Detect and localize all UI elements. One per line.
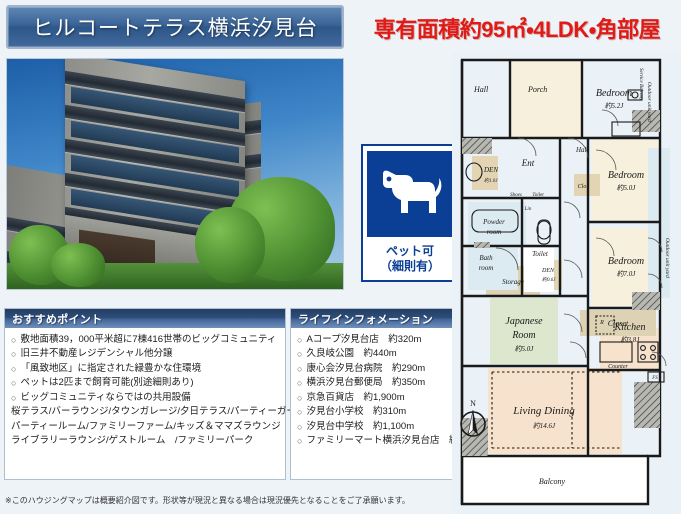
room-size-bedroom-southeast: 約7.0J (617, 270, 637, 278)
property-title-banner: ヒルコートテラス横浜汐見台 (6, 5, 344, 49)
bullet-icon: ○ (297, 391, 302, 405)
room-label-porch: Porch (527, 85, 547, 94)
room-label-hall-mid: Hall (575, 146, 589, 154)
room-label-bedroom-southeast: Bedroom (608, 256, 644, 267)
list-item: ○ ビッグコミュニティならではの共用設備 (11, 391, 279, 405)
list-item-label: 久良岐公園 約440m (306, 347, 396, 361)
list-item-label: 汐見台中学校 約1,100m (306, 420, 414, 434)
room-size-bedroom-east: 約5.0J (617, 184, 637, 192)
room-label-powder-2: room (487, 228, 502, 236)
list-item-label: ビッグコミュニティならではの共用設備 (20, 391, 190, 405)
bullet-icon: ○ (297, 420, 302, 434)
list-item: ○ 汐見台小学校 約310m (297, 405, 453, 419)
room-label-japanese-room-2: Room (511, 330, 535, 341)
room-label-service-balcony: Service Balcony (638, 68, 643, 101)
room-label-closet: Closet (608, 319, 629, 328)
list-item-label: Aコープ汐見台店 約320m (306, 333, 421, 347)
room-label-refrigerator: R (599, 320, 604, 326)
room-label-japanese-room: Japanese (505, 316, 543, 327)
list-item: ○ 横浜汐見台郵便局 約350m (297, 376, 453, 390)
recommended-points-body: ○ 敷地面積39，000平米超に7棟416世帯のビッグコミュニティ ○ 旧三井不… (5, 328, 285, 452)
list-item: ○ 敷地面積39，000平米超に7棟416世帯のビッグコミュニティ (11, 333, 279, 347)
list-item-label: 京急百貨店 約1,900m (306, 391, 404, 405)
room-label-den-2: DEN (541, 268, 555, 274)
room-label-powder: Powder (482, 218, 505, 226)
room-size-living-dining: 約14.6J (533, 422, 556, 430)
room-label-balcony: Balcony (539, 477, 566, 486)
bullet-icon: ○ (297, 405, 302, 419)
list-item: ○ ファミリーマート横浜汐見台店 約420m (297, 434, 453, 448)
pet-badge-caption: ペット可 （細則有） (380, 237, 440, 280)
room-size-bedroom-north: 約5.2J (605, 102, 625, 110)
compass-north-icon: N (456, 397, 490, 445)
building-photo (7, 59, 343, 289)
list-item: ○ 旧三井不動産レジデンシャル他分譲 (11, 347, 279, 361)
room-label-toilet: Toilet (532, 250, 549, 258)
room-label-den-1: DEN (483, 166, 498, 174)
room-label-living-dining: Living Dining (512, 405, 575, 417)
headline-banner: 専有面積約95㎡・4LDK・角部屋 (358, 8, 676, 48)
room-label-outdoor-yard-2: Outdoor unit yard (664, 238, 670, 278)
building-photo-frame (6, 58, 344, 290)
svg-text:N: N (470, 399, 476, 408)
bullet-icon: ○ (297, 434, 302, 448)
facility-line: パーティールーム/ファミリーファーム/キッズ＆ママズラウンジ (11, 420, 279, 434)
list-item: ○ 汐見台中学校 約1,100m (297, 420, 453, 434)
room-size-den-1: 約1.0J (484, 177, 498, 184)
bullet-icon: ○ (297, 333, 302, 347)
listing-page: ヒルコートテラス横浜汐見台 専有面積約95㎡・4LDK・角部屋 (0, 0, 681, 514)
room-label-lin: Lin (524, 207, 532, 212)
list-item-label: 汐見台小学校 約310m (306, 405, 406, 419)
bullet-icon: ○ (297, 347, 302, 361)
recommended-points-panel: おすすめポイント ○ 敷地面積39，000平米超に7棟416世帯のビッグコミュニ… (4, 308, 286, 480)
headline-text: 専有面積約95㎡・4LDK・角部屋 (374, 12, 660, 44)
room-label-hall-top: Hall (473, 85, 489, 94)
room-label-bath: Bath (479, 254, 493, 262)
list-item: ○ ペットは2匹まで飼育可能(別途細則あり) (11, 376, 279, 390)
room-label-counter: Counter (608, 364, 628, 370)
list-item: ○ 京急百貨店 約1,900m (297, 391, 453, 405)
room-label-shoes: Shoes (510, 193, 522, 198)
room-size-den-2: 約0.6J (542, 276, 556, 283)
bullet-icon: ○ (11, 333, 16, 347)
room-label-clo: Clo (578, 184, 587, 190)
room-label-fs: FS (651, 376, 658, 381)
bullet-icon: ○ (11, 391, 16, 405)
room-size-japanese-room: 約5.0J (515, 345, 535, 353)
pet-badge-line1: ペット可 (386, 244, 434, 259)
bullet-icon: ○ (11, 376, 16, 390)
bullet-icon: ○ (297, 362, 302, 376)
room-label-toilet-small: Toilet (532, 193, 544, 198)
bullet-icon: ○ (11, 347, 16, 361)
life-information-body: ○ Aコープ汐見台店 約320m ○ 久良岐公園 約440m ○ 康心会汐見台病… (291, 328, 459, 452)
life-information-header: ライフインフォメーション (291, 309, 459, 328)
facility-line: 桜テラス/バーラウンジ/タウンガレージ/夕日テラス/パーティーガーデン (11, 405, 279, 419)
list-item: ○ 「風致地区」に指定された緑豊かな住環境 (11, 362, 279, 376)
list-item: ○ 康心会汐見台病院 約290m (297, 362, 453, 376)
list-item-label: ペットは2匹まで飼育可能(別途細則あり) (20, 376, 193, 390)
list-item-label: 敷地面積39，000平米超に7棟416世帯のビッグコミュニティ (20, 333, 276, 347)
room-label-ent: Ent (521, 158, 535, 168)
floor-plan: .w { fill:none; stroke:#1a1a1a; stroke-w… (452, 52, 681, 514)
room-label-storage: Storage (502, 278, 524, 286)
recommended-points-header: おすすめポイント (5, 309, 285, 328)
room-size-kitchen: 約3.8J (621, 336, 641, 344)
life-information-title: ライフインフォメーション (298, 311, 433, 327)
list-item: ○ 久良岐公園 約440m (297, 347, 453, 361)
list-item-label: 旧三井不動産レジデンシャル他分譲 (20, 347, 172, 361)
tree (195, 207, 265, 283)
dog-icon (367, 151, 453, 237)
pet-allowed-badge: ペット可 （細則有） (361, 144, 459, 282)
room-label-outdoor-yard-1: Outdoor unit yard (646, 82, 652, 122)
room-label-bedroom-east: Bedroom (608, 170, 644, 181)
list-item-label: 康心会汐見台病院 約290m (306, 362, 425, 376)
list-item: ○ Aコープ汐見台店 約320m (297, 333, 453, 347)
bullet-icon: ○ (11, 362, 16, 376)
list-item-label: 「風致地区」に指定された緑豊かな住環境 (20, 362, 201, 376)
room-label-bedroom-north: Bedroom (596, 88, 632, 99)
facility-line: ライブラリーラウンジ/ゲストルーム /ファミリーパーク (11, 434, 279, 448)
bullet-icon: ○ (297, 376, 302, 390)
recommended-points-title: おすすめポイント (12, 311, 102, 327)
life-information-panel: ライフインフォメーション ○ Aコープ汐見台店 約320m ○ 久良岐公園 約4… (290, 308, 460, 480)
pet-badge-line2: （細則有） (380, 259, 440, 274)
tree (51, 243, 105, 287)
property-title: ヒルコートテラス横浜汐見台 (32, 12, 317, 42)
list-item-label: 横浜汐見台郵便局 約350m (306, 376, 425, 390)
room-label-bath-2: room (479, 264, 494, 272)
